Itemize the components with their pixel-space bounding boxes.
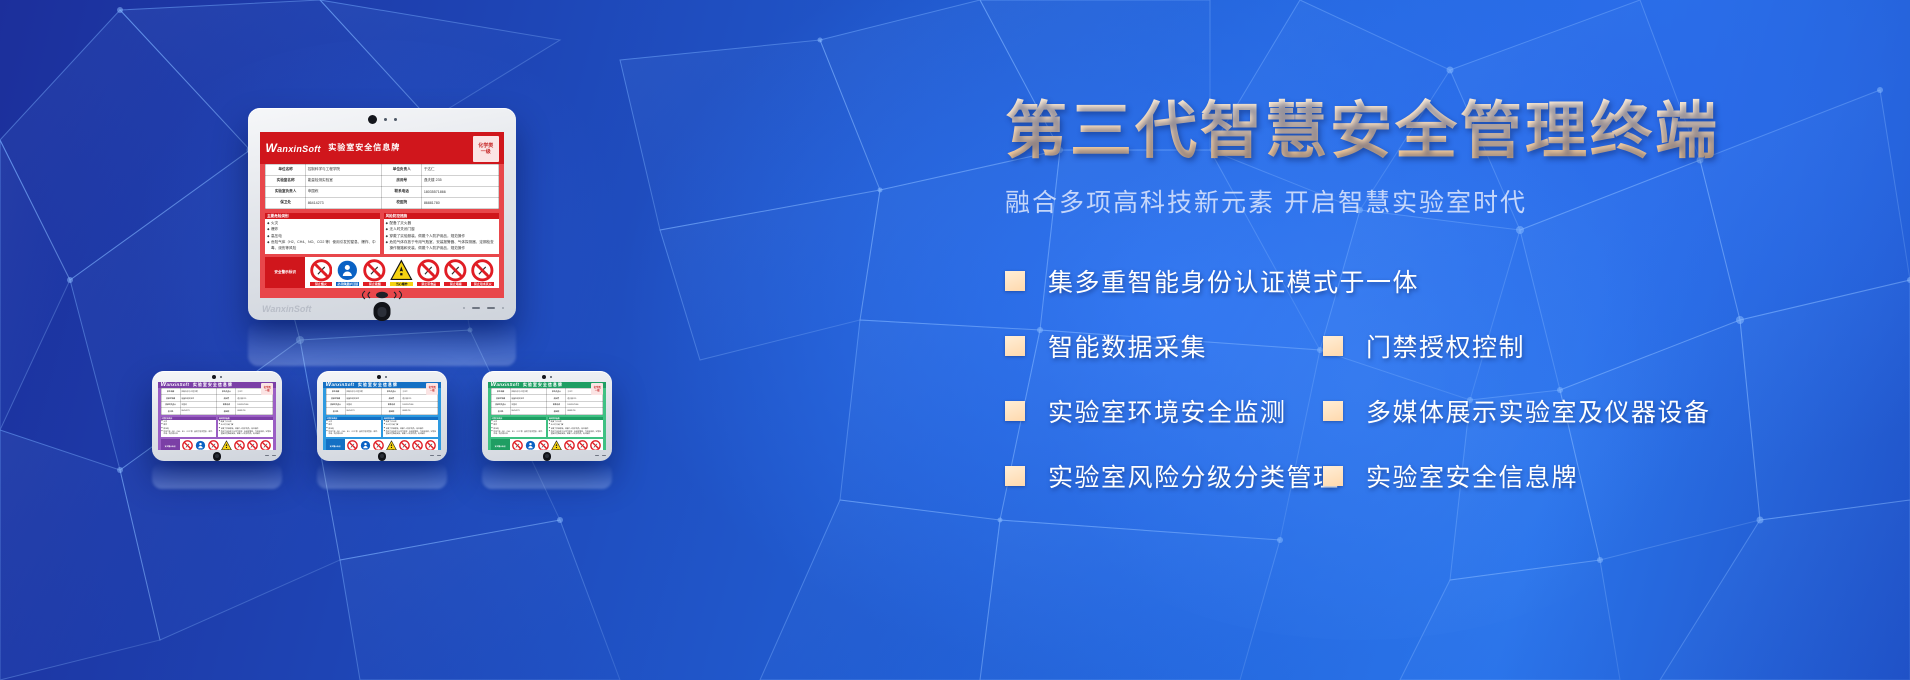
front-camera-icon [368,115,377,124]
no-drinking-sign: 禁止带食品 [234,440,245,450]
feature-label: 门禁授权控制 [1366,328,1525,364]
no-drinking-sign: 禁止带食品 [564,440,575,450]
risk-sections: 主要危险类别 火灾爆炸高压电危险气体（H2、CH4、NO、CO2 等）使用引发的… [161,417,274,438]
risk-sections: 主要危险类别 火灾爆炸高压电危险气体（H2、CH4、NO、CO2 等）使用引发的… [491,417,604,438]
led-indicator-icon [502,307,504,309]
led-indicator-icon [463,307,465,309]
tablet-screen[interactable]: WanxinSoft 实验室安全信息牌 化学类一级 单位名称控制科学与工程学院单… [158,382,276,450]
speaker-slot-icon [487,307,495,309]
warning-signs-row: 安全警示标识 禁止烟火必须佩戴护目镜禁止吸烟当心爆炸禁止带食品禁止堵塞禁止用水灭… [161,439,274,450]
sensor-dot-icon [550,376,552,378]
front-camera-icon [212,375,217,380]
wear-goggles-sign: 必须佩戴护目镜 [195,440,206,450]
lab-safety-info-board: WanxinSoft 实验室安全信息牌 化学类一级 单位名称控制科学与工程学院单… [323,382,441,450]
table-row: 保卫处86414273校医院86881780 [266,197,498,208]
thumb-tablet-green: WanxinSoft 实验室安全信息牌 化学类一级 单位名称控制科学与工程学院单… [482,371,612,461]
no-water-sign: 禁止用水灭火 [425,440,436,450]
main-tablet-device: WanxinSoft 实验室安全信息牌 化学类一级 单位名称控制科学与工程学院单… [248,108,516,320]
sensor-dot-icon [385,376,387,378]
list-item: 危险气体存放于专用气瓶室、安装报警器、气体探测器，定期检查操作管路和安装，佩戴个… [549,431,603,436]
feature-item[interactable]: 集多重智能身份认证模式于一体 [1005,263,1419,299]
warning-signs-label: 安全警示标识 [326,439,345,450]
table-cell-value: 86881780 [421,197,498,208]
hazard-list: 火灾爆炸高压电危险气体（H2、CH4、NO、CO2 等）使用引发的窒息、爆炸、中… [267,221,378,251]
table-cell-key: 保卫处 [491,408,510,414]
front-camera-icon [377,375,382,380]
flammable-warn-sign: 当心爆炸 [390,259,413,286]
table-cell-value: 86414273 [180,408,217,414]
no-fire-sign: 禁止烟火 [182,440,193,450]
feature-item[interactable]: 智能数据采集 [1005,328,1323,364]
feature-item[interactable]: 多媒体展示实验室及仪器设备 [1323,393,1711,429]
board-title: 实验室安全信息牌 [328,142,400,153]
table-cell-key: 保卫处 [326,408,345,414]
square-bullet-icon [1323,466,1343,486]
table-cell-key: 保卫处 [161,408,180,414]
lab-info-rows: 单位名称控制科学与工程学院单位负责人于达仁实验室名称能量检测实验室房间号逸夫楼 … [326,389,438,415]
hazard-title: 主要危险类别 [265,213,380,220]
thumb-tablet-blue: WanxinSoft 实验室安全信息牌 化学类一级 单位名称控制科学与工程学院单… [317,371,447,461]
warning-sign-icons: 禁止烟火必须佩戴护目镜禁止吸烟当心爆炸禁止带食品禁止堵塞禁止用水灭火 [510,439,604,450]
list-item: 无人时关闭门窗 [386,227,497,232]
no-water-sign: 禁止用水灭火 [260,440,271,450]
board-header: WanxinSoft 实验室安全信息牌 化学类一级 [158,382,276,388]
sign-caption: 禁止用水灭火 [471,282,494,286]
lab-safety-info-board: WanxinSoft 实验室安全信息牌 化学类一级 单位名称控制科学与工程学院单… [158,382,276,450]
warning-signs-row: 安全警示标识 禁止烟火必须佩戴护目镜禁止吸烟当心爆炸禁止带食品禁止堵塞禁止用水灭… [265,257,498,288]
speaker-slot-icon [595,455,599,456]
table-row: 实验室名称能量检测实验室房间号逸夫楼 235 [266,175,498,186]
feature-label: 多媒体展示实验室及仪器设备 [1366,393,1711,429]
board-header: WanxinSoft 实验室安全信息牌 化学类一级 [260,132,504,164]
grade-badge: 化学类一级 [426,383,438,395]
wear-goggles-sign: 必须佩戴护目镜 [360,440,371,450]
warning-sign-icons: 禁止烟火必须佩戴护目镜禁止吸烟当心爆炸禁止带食品禁止堵塞禁止用水灭火 [345,439,439,450]
table-cell-value: 86881780 [401,408,438,414]
no-water-sign: 禁止用水灭火 [590,440,601,450]
lab-safety-info-board: WanxinSoft 实验室安全信息牌 化学类一级 单位名称控制科学与工程学院单… [260,132,504,298]
table-cell-key: 校医院 [382,408,401,414]
list-item: 危险气体存放于专用气瓶室、安装报警器、气体探测器，定期检查操作管路和安装，佩戴个… [384,431,438,436]
feature-row: 智能数据采集门禁授权控制 [1005,328,1885,364]
board-title: 实验室安全信息牌 [523,382,563,388]
no-smoking-sign: 禁止吸烟 [538,440,549,450]
table-cell-value: 86414273 [305,197,382,208]
feature-item[interactable]: 实验室风险分级分类管理 [1005,458,1323,494]
table-cell-value: 能量检测实验室 [305,175,382,186]
wanxinsoft-logo: WanxinSoft [491,382,520,388]
feature-label: 实验室环境安全监测 [1048,393,1287,429]
list-item: 危险气体存放于专用气瓶室、安装报警器、气体探测器，定期检查操作管路和安装，佩戴个… [386,240,497,251]
feature-row: 实验室环境安全监测多媒体展示实验室及仪器设备 [1005,393,1885,429]
lab-info-table: 单位名称控制科学与工程学院单位负责人于达仁实验室名称能量检测实验室房间号逸夫楼 … [326,388,439,415]
control-title: 风险防控措施 [384,213,499,220]
table-cell-key: 单位负责人 [382,164,421,175]
tablet-chin [482,450,612,461]
square-bullet-icon [1005,401,1025,421]
fingerprint-home-button[interactable] [374,302,391,321]
control-section: 风险防控措施 配备了灭火器无人时关闭门窗穿戴了实验服装，佩戴个人防护用品，规范操… [383,417,439,438]
thumb-reflection [482,463,612,489]
thumb-reflection [152,463,282,489]
nfc-wave-icon [359,290,405,300]
hazard-section: 主要危险类别 火灾爆炸高压电危险气体（H2、CH4、NO、CO2 等）使用引发的… [326,417,382,438]
no-smoking-sign: 禁止吸烟 [373,440,384,450]
list-item: 配备了灭火器 [386,221,497,226]
table-cell-key: 校医院 [547,408,566,414]
control-section: 风险防控措施 配备了灭火器无人时关闭门窗穿戴了实验服装，佩戴个人防护用品，规范操… [384,213,499,254]
feature-item[interactable]: 实验室安全信息牌 [1323,458,1578,494]
flammable-warn-sign: 当心爆炸 [221,440,232,450]
lab-safety-info-board: WanxinSoft 实验室安全信息牌 化学类一级 单位名称控制科学与工程学院单… [488,382,606,450]
list-item: 危险气体（H2、CH4、NO、CO2 等）使用引发的窒息、爆炸、中毒、烧伤等风险 [267,240,378,251]
no-smoking-sign: 禁止吸烟 [363,259,386,286]
sign-caption: 禁止带食品 [417,282,440,286]
table-cell-value: 86414273 [345,408,382,414]
list-item: 穿戴了实验服装，佩戴个人防护用品，规范操作 [386,234,497,239]
speaker-slot-icon [602,455,606,456]
sensor-dot-icon [384,118,387,121]
square-bullet-icon [1323,336,1343,356]
thumb-tablet-purple: WanxinSoft 实验室安全信息牌 化学类一级 单位名称控制科学与工程学院单… [152,371,282,461]
no-entry-sign: 禁止堵塞 [247,440,258,450]
square-bullet-icon [1005,466,1025,486]
control-list: 配备了灭火器无人时关闭门窗穿戴了实验服装，佩戴个人防护用品，规范操作危险气体存放… [549,421,603,436]
hazard-section: 主要危险类别 火灾爆炸高压电危险气体（H2、CH4、NO、CO2 等）使用引发的… [161,417,217,438]
board-body: 单位名称控制科学与工程学院单位负责人于达仁实验室名称能量检测实验室房间号逸夫楼 … [158,388,276,450]
chin-brand-logo: WanxinSoft [262,304,311,314]
table-cell-key: 单位名称 [266,164,305,175]
hazard-list: 火灾爆炸高压电危险气体（H2、CH4、NO、CO2 等）使用引发的窒息、爆炸、中… [491,421,545,436]
tablet-chin [152,450,282,461]
table-cell-key: 校医院 [217,408,236,414]
tablet-screen[interactable]: WanxinSoft 实验室安全信息牌 化学类一级 单位名称控制科学与工程学院单… [260,132,504,298]
feature-row: 实验室风险分级分类管理实验室安全信息牌 [1005,458,1885,494]
feature-item[interactable]: 实验室环境安全监测 [1005,393,1323,429]
table-cell-value: 86881780 [236,408,273,414]
table-row: 保卫处86414273校医院86881780 [326,408,438,414]
feature-list: 集多重智能身份认证模式于一体智能数据采集门禁授权控制实验室环境安全监测多媒体展示… [1005,263,1885,494]
no-fire-sign: 禁止烟火 [347,440,358,450]
tablet-screen[interactable]: WanxinSoft 实验室安全信息牌 化学类一级 单位名称控制科学与工程学院单… [323,382,441,450]
lab-info-rows: 单位名称控制科学与工程学院单位负责人于达仁实验室名称能量检测实验室房间号逸夫楼 … [266,164,498,208]
no-entry-sign: 禁止堵塞 [577,440,588,450]
warning-sign-icons: 禁止烟火必须佩戴护目镜禁止吸烟当心爆炸禁止带食品禁止堵塞禁止用水灭火 [305,257,499,288]
table-cell-key: 房间号 [382,175,421,186]
table-cell-value: 控制科学与工程学院 [305,164,382,175]
sign-caption: 必须佩戴护目镜 [336,282,359,286]
list-item: 危险气体（H2、CH4、NO、CO2 等）使用引发的窒息、爆炸、中毒、烧伤等风险 [491,431,545,436]
table-cell-value: 申国栋 [305,186,382,197]
wanxinsoft-logo: WanxinSoft [326,382,355,388]
tablet-screen[interactable]: WanxinSoft 实验室安全信息牌 化学类一级 单位名称控制科学与工程学院单… [488,382,606,450]
no-drinking-sign: 禁止带食品 [399,440,410,450]
sensor-dot-icon [394,118,397,121]
speaker-slot-icon [472,307,480,309]
board-title: 实验室安全信息牌 [193,382,233,388]
table-cell-key: 校医院 [382,197,421,208]
grade-badge: 化学类一级 [261,383,273,395]
speaker-slot-icon [265,455,269,456]
tablet-chin [317,450,447,461]
hazard-section: 主要危险类别 火灾爆炸高压电危险气体（H2、CH4、NO、CO2 等）使用引发的… [491,417,547,438]
page-title: 第三代智慧安全管理终端 [1005,96,1885,167]
feature-label: 智能数据采集 [1048,328,1207,364]
list-item: 爆炸 [267,227,378,232]
front-camera-icon [542,375,547,380]
control-list: 配备了灭火器无人时关闭门窗穿戴了实验服装，佩戴个人防护用品，规范操作危险气体存放… [219,421,273,436]
table-cell-value: 于达仁 [421,164,498,175]
sign-caption: 禁止烟火 [310,282,333,286]
table-cell-value: 18035571866 [421,186,498,197]
table-row: 单位名称控制科学与工程学院单位负责人于达仁 [266,164,498,175]
warning-signs-row: 安全警示标识 禁止烟火必须佩戴护目镜禁止吸烟当心爆炸禁止带食品禁止堵塞禁止用水灭… [326,439,439,450]
no-water-sign: 禁止用水灭火 [471,259,494,286]
warning-signs-label: 安全警示标识 [491,439,510,450]
wanxinsoft-logo: WanxinSoft [161,382,190,388]
tablet-chin: WanxinSoft [248,298,516,320]
feature-label: 集多重智能身份认证模式于一体 [1048,263,1419,299]
lab-info-table: 单位名称控制科学与工程学院单位负责人于达仁实验室名称能量检测实验室房间号逸夫楼 … [265,164,498,209]
grade-badge: 化学类一级 [473,136,499,162]
control-list: 配备了灭火器无人时关闭门窗穿戴了实验服装，佩戴个人防护用品，规范操作危险气体存放… [386,221,497,251]
page-subtitle: 融合多项高科技新元素 开启智慧实验室时代 [1005,183,1885,219]
no-drinking-sign: 禁止带食品 [417,259,440,286]
lab-info-rows: 单位名称控制科学与工程学院单位负责人于达仁实验室名称能量检测实验室房间号逸夫楼 … [161,389,273,415]
list-item: 高压电 [267,234,378,239]
speaker-slot-icon [430,455,434,456]
sign-caption: 当心爆炸 [390,282,413,286]
no-smoking-sign: 禁止吸烟 [208,440,219,450]
table-cell-value: 逸夫楼 235 [421,175,498,186]
table-cell-key: 保卫处 [266,197,305,208]
speaker-slot-icon [272,455,276,456]
board-title: 实验室安全信息牌 [358,382,398,388]
lab-info-rows: 单位名称控制科学与工程学院单位负责人于达仁实验室名称能量检测实验室房间号逸夫楼 … [491,389,603,415]
table-cell-value: 86414273 [510,408,547,414]
board-body: 单位名称控制科学与工程学院单位负责人于达仁实验室名称能量检测实验室房间号逸夫楼 … [488,388,606,450]
feature-row: 集多重智能身份认证模式于一体 [1005,263,1885,299]
feature-item[interactable]: 门禁授权控制 [1323,328,1525,364]
no-fire-sign: 禁止烟火 [310,259,333,286]
square-bullet-icon [1005,271,1025,291]
control-section: 风险防控措施 配备了灭火器无人时关闭门窗穿戴了实验服装，佩戴个人防护用品，规范操… [218,417,274,438]
no-entry-sign: 禁止堵塞 [412,440,423,450]
fingerprint-home-button[interactable] [378,452,386,461]
lab-info-table: 单位名称控制科学与工程学院单位负责人于达仁实验室名称能量检测实验室房间号逸夫楼 … [491,388,604,415]
sign-caption: 禁止堵塞 [444,282,467,286]
wear-goggles-sign: 必须佩戴护目镜 [336,259,359,286]
risk-sections: 主要危险类别 火灾爆炸高压电危险气体（H2、CH4、NO、CO2 等）使用引发的… [265,213,498,254]
warning-signs-label: 安全警示标识 [265,257,305,288]
board-body: 单位名称控制科学与工程学院单位负责人于达仁实验室名称能量检测实验室房间号逸夫楼 … [260,164,504,298]
table-cell-key: 实验室负责人 [266,186,305,197]
hazard-section: 主要危险类别 火灾爆炸高压电危险气体（H2、CH4、NO、CO2 等）使用引发的… [265,213,380,254]
warning-signs-row: 安全警示标识 禁止烟火必须佩戴护目镜禁止吸烟当心爆炸禁止带食品禁止堵塞禁止用水灭… [491,439,604,450]
speaker-slot-icon [437,455,441,456]
square-bullet-icon [1323,401,1343,421]
main-tablet-reflection [248,322,516,366]
risk-sections: 主要危险类别 火灾爆炸高压电危险气体（H2、CH4、NO、CO2 等）使用引发的… [326,417,439,438]
fingerprint-home-button[interactable] [213,452,221,461]
promo-banner: WanxinSoft 实验室安全信息牌 化学类一级 单位名称控制科学与工程学院单… [0,0,1910,680]
list-item: 火灾 [267,221,378,226]
list-item: 危险气体（H2、CH4、NO、CO2 等）使用引发的窒息、爆炸、中毒、烧伤等风险 [326,431,380,436]
table-cell-key: 实验室名称 [266,175,305,186]
grade-badge: 化学类一级 [591,383,603,395]
board-header: WanxinSoft 实验室安全信息牌 化学类一级 [323,382,441,388]
list-item: 危险气体（H2、CH4、NO、CO2 等）使用引发的窒息、爆炸、中毒、烧伤等风险 [161,431,215,436]
board-body: 单位名称控制科学与工程学院单位负责人于达仁实验室名称能量检测实验室房间号逸夫楼 … [323,388,441,450]
control-section: 风险防控措施 配备了灭火器无人时关闭门窗穿戴了实验服装，佩戴个人防护用品，规范操… [548,417,604,438]
warning-signs-label: 安全警示标识 [161,439,180,450]
list-item: 危险气体存放于专用气瓶室、安装报警器、气体探测器，定期检查操作管路和安装，佩戴个… [219,431,273,436]
table-cell-key: 联系电话 [382,186,421,197]
flammable-warn-sign: 当心爆炸 [551,440,562,450]
feature-label: 实验室安全信息牌 [1366,458,1578,494]
table-cell-value: 86881780 [566,408,603,414]
sensor-dot-icon [220,376,222,378]
lab-info-table: 单位名称控制科学与工程学院单位负责人于达仁实验室名称能量检测实验室房间号逸夫楼 … [161,388,274,415]
no-entry-sign: 禁止堵塞 [444,259,467,286]
fingerprint-home-button[interactable] [543,452,551,461]
feature-label: 实验室风险分级分类管理 [1048,458,1340,494]
hazard-list: 火灾爆炸高压电危险气体（H2、CH4、NO、CO2 等）使用引发的窒息、爆炸、中… [161,421,215,436]
thumb-reflection [317,463,447,489]
table-row: 实验室负责人申国栋联系电话18035571866 [266,186,498,197]
no-fire-sign: 禁止烟火 [512,440,523,450]
wear-goggles-sign: 必须佩戴护目镜 [525,440,536,450]
hazard-list: 火灾爆炸高压电危险气体（H2、CH4、NO、CO2 等）使用引发的窒息、爆炸、中… [326,421,380,436]
square-bullet-icon [1005,336,1025,356]
warning-sign-icons: 禁止烟火必须佩戴护目镜禁止吸烟当心爆炸禁止带食品禁止堵塞禁止用水灭火 [180,439,274,450]
board-header: WanxinSoft 实验室安全信息牌 化学类一级 [488,382,606,388]
control-list: 配备了灭火器无人时关闭门窗穿戴了实验服装，佩戴个人防护用品，规范操作危险气体存放… [384,421,438,436]
wanxinsoft-logo: WanxinSoft [265,141,320,155]
table-row: 保卫处86414273校医院86881780 [161,408,273,414]
banner-text-column: 第三代智慧安全管理终端 融合多项高科技新元素 开启智慧实验室时代 集多重智能身份… [1005,96,1885,523]
flammable-warn-sign: 当心爆炸 [386,440,397,450]
table-row: 保卫处86414273校医院86881780 [491,408,603,414]
sign-caption: 禁止吸烟 [363,282,386,286]
